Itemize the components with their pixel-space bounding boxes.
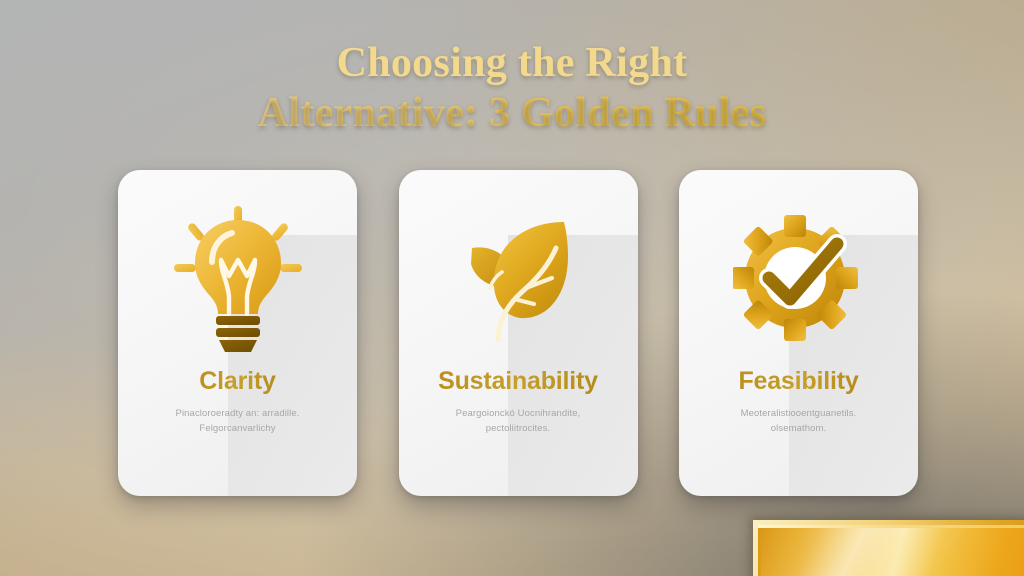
card-description-line-2: Felgorcanvarlichy	[138, 421, 338, 436]
card-description-sustainability: Peargoionckó Uocnihrandite, pectoliitroc…	[418, 406, 618, 436]
card-clarity[interactable]: Clarity Pinacloroeradty an: arradille. F…	[118, 170, 357, 496]
card-title-sustainability: Sustainability	[438, 366, 598, 396]
card-row: Clarity Pinacloroeradty an: arradille. F…	[118, 170, 918, 496]
card-feasibility[interactable]: Feasibility Meoteralistiooentguanetils. …	[679, 170, 918, 496]
lightbulb-icon	[172, 204, 304, 352]
leaf-icon	[452, 204, 584, 352]
gold-plaque-bevel-sheen	[761, 528, 1024, 576]
card-description-line-1: Pinacloroeradty an: arradille.	[138, 406, 338, 421]
page-title: Choosing the Right Alternative: 3 Golden…	[0, 38, 1024, 138]
gold-plaque	[753, 520, 1024, 576]
card-title-feasibility: Feasibility	[738, 366, 858, 396]
gold-plaque-edge-highlight	[758, 525, 1024, 528]
slide-canvas: Choosing the Right Alternative: 3 Golden…	[0, 0, 1024, 576]
card-title-clarity: Clarity	[199, 366, 275, 396]
card-description-line-1: Peargoionckó Uocnihrandite,	[418, 406, 618, 421]
gear-check-icon	[733, 204, 865, 352]
card-sustainability[interactable]: Sustainability Peargoionckó Uocnihrandit…	[399, 170, 638, 496]
card-description-clarity: Pinacloroeradty an: arradille. Felgorcan…	[138, 406, 338, 436]
page-title-line-1: Choosing the Right	[0, 38, 1024, 88]
card-description-line-2: olsemathom.	[699, 421, 899, 436]
card-description-line-1: Meoteralistiooentguanetils.	[699, 406, 899, 421]
page-title-line-2: Alternative: 3 Golden Rules	[0, 88, 1024, 138]
card-description-feasibility: Meoteralistiooentguanetils. olsemathom.	[699, 406, 899, 436]
card-description-line-2: pectoliitrocites.	[418, 421, 618, 436]
